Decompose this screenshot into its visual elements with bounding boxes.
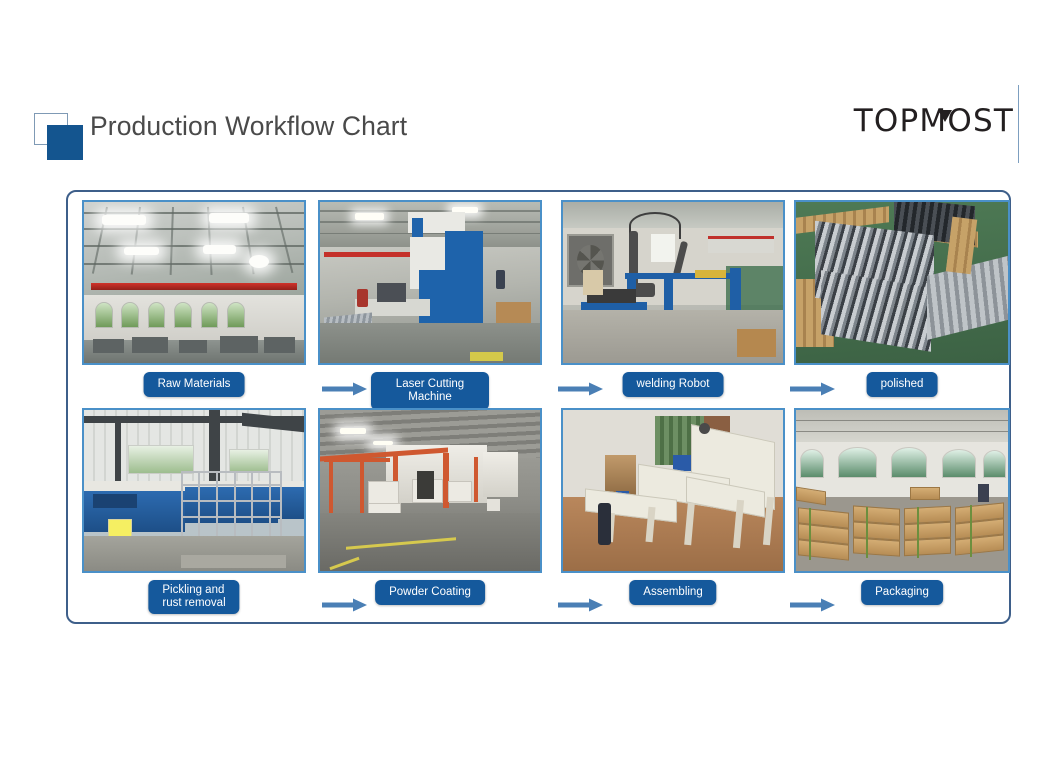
photo-pickling-tanks	[84, 410, 304, 571]
logo-mark	[34, 113, 86, 161]
workflow-step-pickling[interactable]: Pickling and rust removal	[76, 406, 312, 611]
workflow-step-label: Packaging	[861, 580, 943, 605]
workflow-step-packaging[interactable]: Packaging	[792, 406, 1012, 611]
photo-polished-parts	[796, 202, 1008, 363]
photo-welding-robot	[563, 202, 783, 363]
photo-powder-coating-line	[320, 410, 540, 571]
workflow-step-label: Assembling	[629, 580, 716, 605]
workflow-step-label: welding Robot	[623, 372, 724, 397]
workflow-step-label: polished	[867, 372, 938, 397]
workflow-step-label: Powder Coating	[375, 580, 485, 605]
photo-laser-cutting-machine	[320, 202, 540, 363]
photo-factory-hall	[84, 202, 304, 363]
photo-frame	[82, 408, 306, 573]
photo-frame	[794, 408, 1010, 573]
workflow-step-label: Raw Materials	[144, 372, 245, 397]
brand-logo-text: TOPMOST	[854, 103, 1014, 139]
workflow-step-assembling[interactable]: Assembling	[558, 406, 788, 611]
photo-frame	[561, 408, 785, 573]
header-divider	[1018, 85, 1019, 163]
workflow-row-1: Raw Materials	[68, 198, 1013, 403]
photo-packaged-cartons	[796, 410, 1008, 571]
workflow-step-polished[interactable]: polished	[792, 198, 1012, 403]
brand-triangle-icon	[938, 110, 952, 122]
workflow-step-label: Laser Cutting Machine	[371, 372, 489, 410]
brand-logo: TOPMOST	[854, 104, 1014, 138]
photo-frame	[318, 200, 542, 365]
photo-frame	[561, 200, 785, 365]
photo-frame	[318, 408, 542, 573]
photo-assembly-line	[563, 410, 783, 571]
page-title: Production Workflow Chart	[90, 111, 407, 142]
workflow-row-2: Pickling and rust removal	[68, 406, 1013, 611]
workflow-step-label: Pickling and rust removal	[148, 580, 239, 614]
photo-frame	[794, 200, 1010, 365]
logo-square-solid-icon	[47, 125, 83, 160]
workflow-step-laser-cutting[interactable]: Laser Cutting Machine	[312, 198, 548, 403]
page-header: Production Workflow Chart TOPMOST	[0, 0, 1060, 180]
workflow-container: Raw Materials	[66, 190, 1011, 624]
workflow-step-welding-robot[interactable]: welding Robot	[558, 198, 788, 403]
photo-frame	[82, 200, 306, 365]
workflow-step-raw-materials[interactable]: Raw Materials	[76, 198, 312, 403]
workflow-step-powder-coating[interactable]: Powder Coating	[312, 406, 548, 611]
